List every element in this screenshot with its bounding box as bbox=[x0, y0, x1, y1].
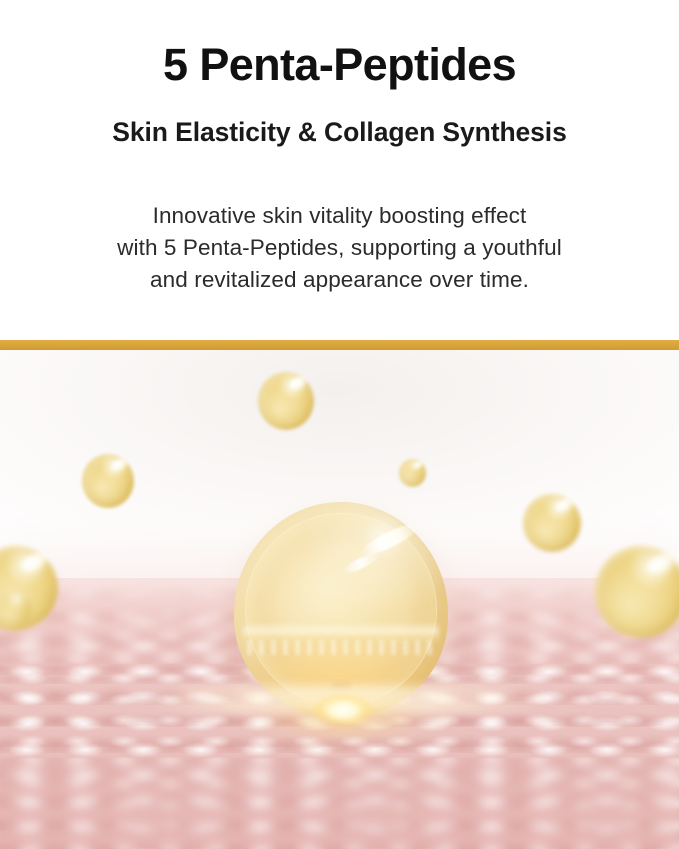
text-panel: 5 Penta-Peptides Skin Elasticity & Colla… bbox=[0, 0, 679, 340]
product-infographic-page: 5 Penta-Peptides Skin Elasticity & Colla… bbox=[0, 0, 679, 849]
droplet-highlight-icon bbox=[644, 549, 679, 579]
page-subtitle: Skin Elasticity & Collagen Synthesis bbox=[0, 117, 679, 147]
droplet-left-mid bbox=[82, 454, 134, 508]
hero-droplet-contact-neck bbox=[332, 683, 349, 722]
droplet-right-lower bbox=[595, 546, 679, 638]
description-text: Innovative skin vitality boosting effect… bbox=[0, 200, 679, 296]
hero-droplet-rim bbox=[245, 513, 438, 707]
skin-depth-blur-near bbox=[0, 758, 679, 849]
hero-image-scene bbox=[0, 350, 679, 849]
description-line-2: with 5 Penta-Peptides, supporting a yout… bbox=[0, 232, 679, 264]
hero-droplet-refraction-detail bbox=[247, 640, 435, 655]
description-line-1: Innovative skin vitality boosting effect bbox=[0, 200, 679, 232]
gold-divider-bar bbox=[0, 340, 679, 350]
description-line-3: and revitalized appearance over time. bbox=[0, 264, 679, 296]
droplet-small-center-right bbox=[399, 459, 426, 487]
page-title: 5 Penta-Peptides bbox=[0, 41, 679, 90]
droplet-top-center bbox=[258, 372, 314, 430]
droplet-right-upper bbox=[523, 494, 581, 552]
droplet-hero-center bbox=[234, 502, 448, 717]
